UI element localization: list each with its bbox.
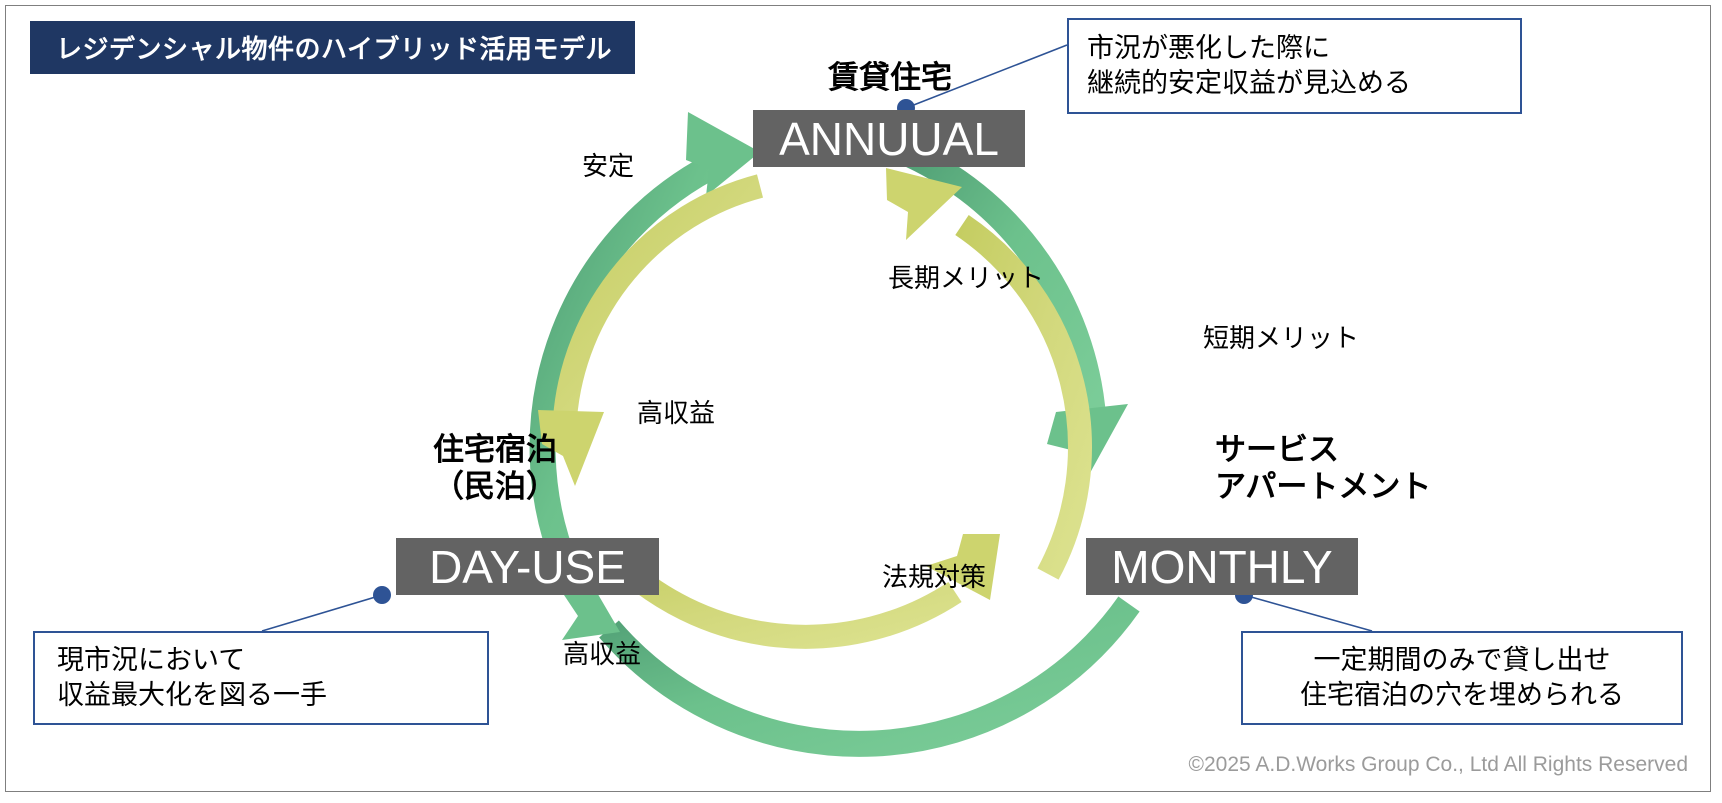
arrow-label-law: 法規対策 <box>882 557 986 594</box>
node-chip-dayuse[interactable]: DAY-USE <box>396 538 659 595</box>
callout-monthly: 一定期間のみで貸し出せ 住宅宿泊の穴を埋められる <box>1241 631 1683 725</box>
arrow-monthly-to-annual-yellow <box>886 168 1080 574</box>
callout-dayuse: 現市況において 収益最大化を図る一手 <box>33 631 489 725</box>
node-caption-dayuse: 住宅宿泊 （民泊） <box>330 432 660 505</box>
leader-line-dayuse <box>262 586 391 631</box>
arrow-label-long-term: 長期メリット <box>888 258 1044 295</box>
arrow-label-stable: 安定 <box>582 146 634 183</box>
node-chip-monthly[interactable]: MONTHLY <box>1086 538 1358 595</box>
copyright-notice: ©2025 A.D.Works Group Co., Ltd All Right… <box>1189 753 1688 777</box>
arrow-label-high-revenue-bottom: 高収益 <box>563 634 641 671</box>
arrow-label-high-revenue-left: 高収益 <box>637 393 715 430</box>
arrow-label-short-term: 短期メリット <box>1203 318 1359 355</box>
slide-canvas: レジデンシャル物件のハイブリッド活用モデル <box>0 0 1722 803</box>
node-caption-annual: 賃貸住宅 <box>760 60 1020 97</box>
node-caption-monthly: サービス アパートメント <box>1215 432 1515 505</box>
node-chip-annual[interactable]: ANNUUAL <box>753 110 1025 167</box>
callout-annual: 市況が悪化した際に 継続的安定収益が見込める <box>1067 18 1522 114</box>
